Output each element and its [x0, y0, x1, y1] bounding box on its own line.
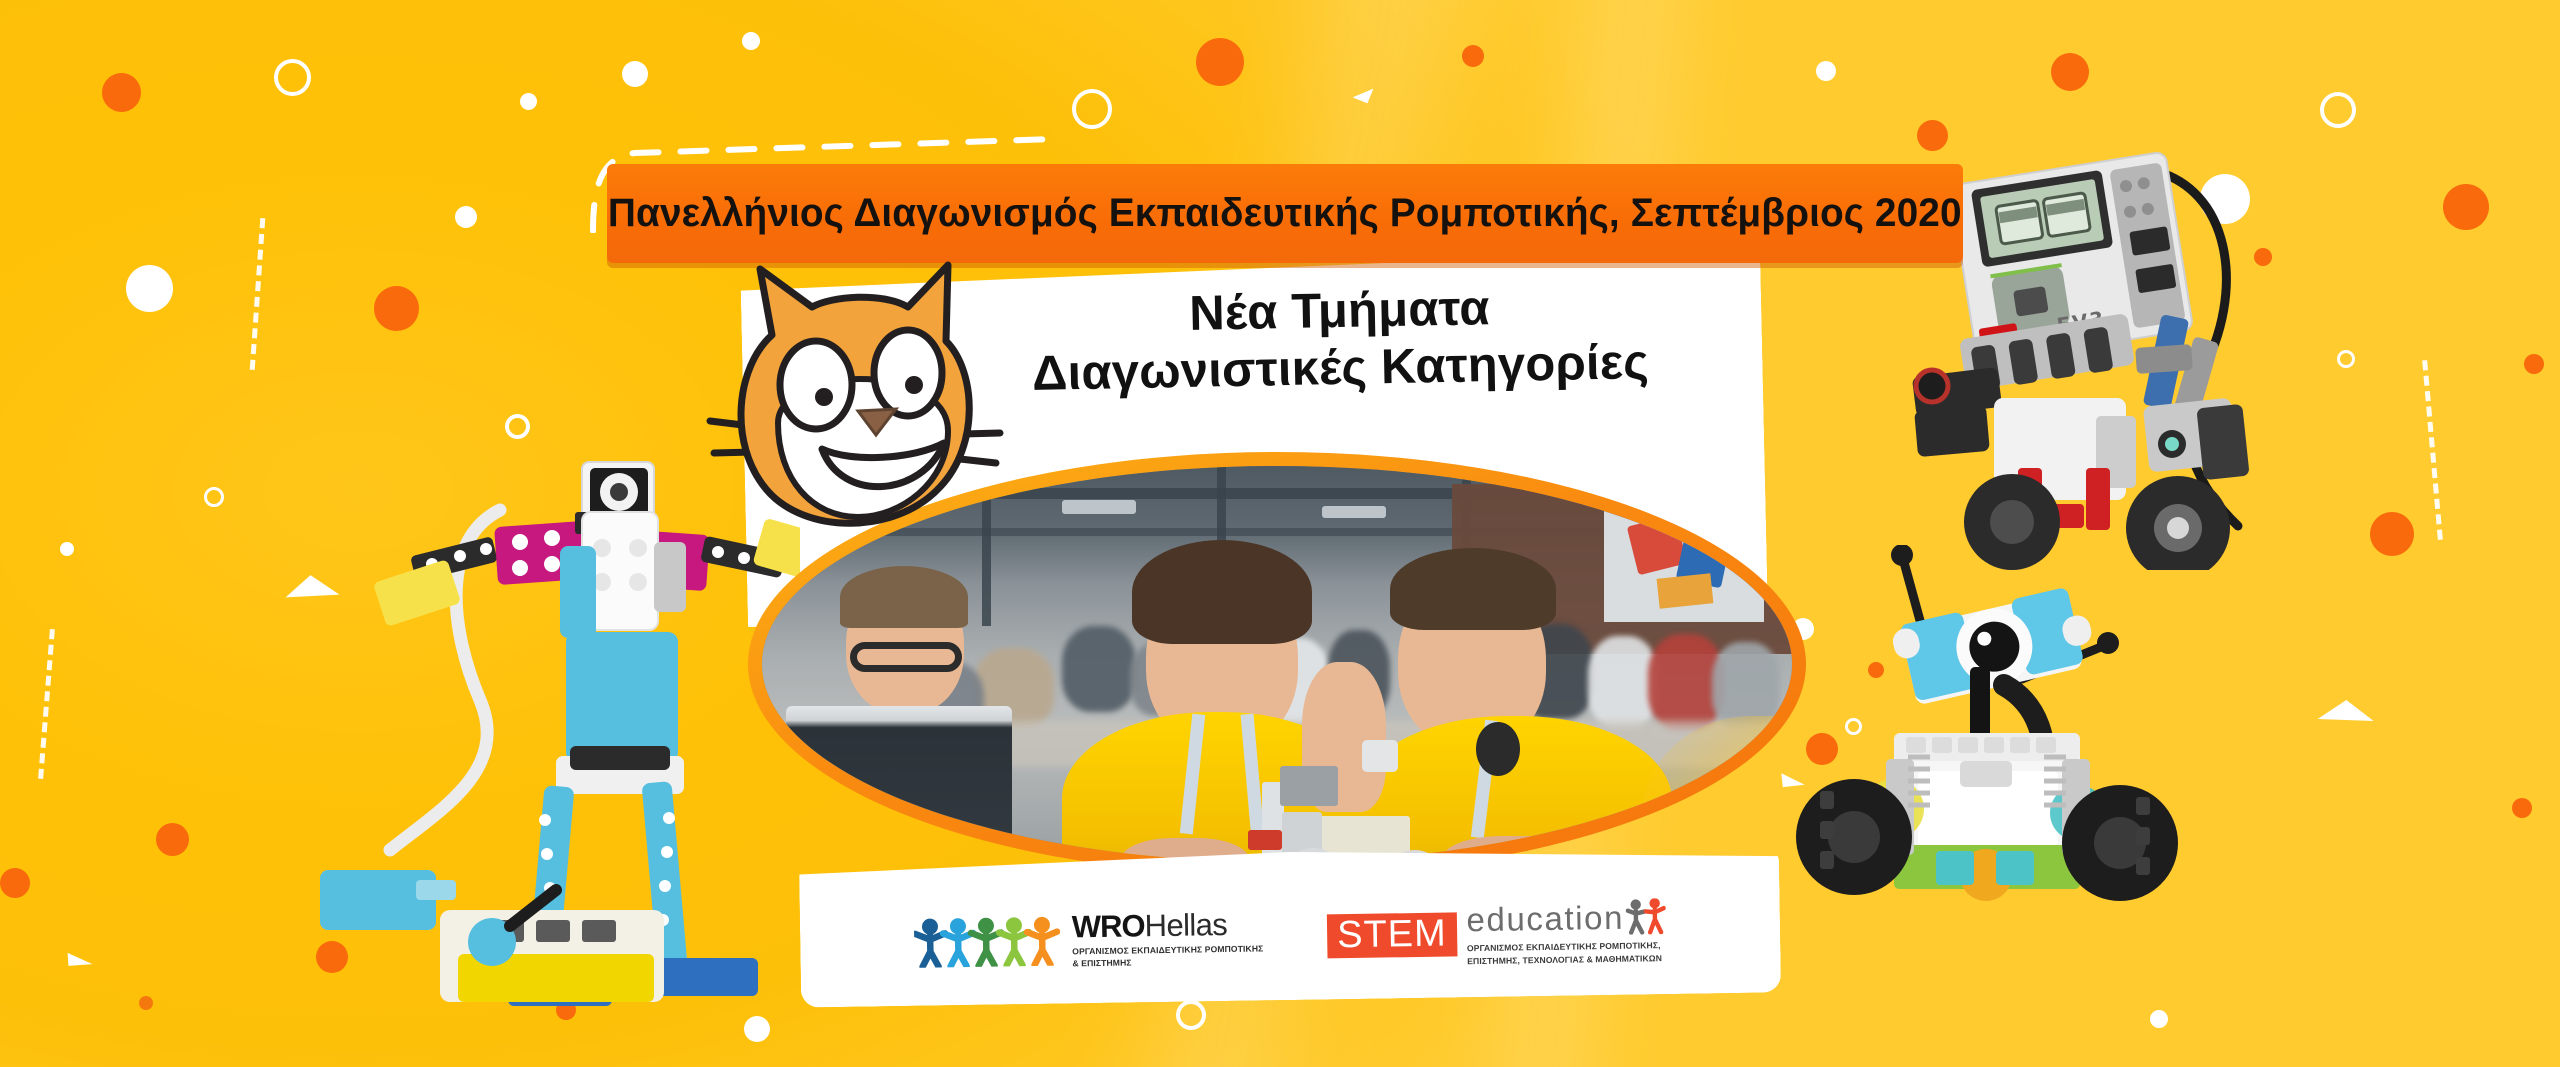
- photo-robot-part: [1280, 766, 1338, 806]
- stem-people-icon: [1626, 899, 1667, 936]
- cat-pupil-left: [815, 388, 833, 406]
- decor-dot: [2051, 53, 2089, 91]
- photo-robot-part: [1248, 830, 1282, 850]
- photo-laptop: [786, 706, 1012, 862]
- cat-pupil-right: [905, 376, 923, 394]
- stem-text-block: education: [1466, 899, 1667, 967]
- decor-dot: [2443, 184, 2489, 230]
- photo-crowd: [1062, 626, 1136, 712]
- cat-eye-right: [874, 330, 942, 416]
- photo-boy-left-glasses: [850, 642, 962, 672]
- decor-dot: [2150, 1010, 2168, 1028]
- decor-ring: [2337, 350, 2355, 368]
- photo-ceiling-light: [1322, 506, 1386, 518]
- photo-boy-left-hair: [840, 566, 968, 628]
- decor-triangle: [68, 951, 93, 966]
- decor-ring: [1176, 1000, 1206, 1030]
- decor-dot: [2370, 512, 2414, 556]
- decor-triangle: [2318, 699, 2375, 721]
- ev3-ir-sensor: [1916, 370, 1948, 402]
- decor-dot: [126, 265, 173, 312]
- photo-banner-graphic: [1657, 573, 1714, 608]
- decor-dashed-line: [2422, 360, 2443, 540]
- wro-people-figures: [914, 916, 1061, 968]
- wro-people-icon: [914, 916, 1061, 968]
- decor-ring: [274, 59, 311, 96]
- decor-dot: [1196, 38, 1244, 86]
- photo-wristwatch: [1362, 740, 1398, 772]
- spike-torso-left-motor: [560, 546, 596, 638]
- decor-dot: [744, 1016, 770, 1042]
- photo-boy-right-hair: [1390, 548, 1556, 630]
- decor-ring: [505, 414, 530, 439]
- stem-people-figures: [1626, 899, 1667, 936]
- decor-ring: [2320, 92, 2356, 128]
- photo-ceiling-light: [1062, 500, 1136, 514]
- decor-dot: [1816, 61, 1836, 81]
- spike-connector-block: [320, 870, 436, 930]
- ev3-red-brick: [2086, 468, 2110, 530]
- ev3-color-sensor: [2165, 437, 2179, 451]
- decor-dot: [139, 996, 153, 1010]
- decor-dot: [455, 206, 477, 228]
- decor-dot: [156, 823, 189, 856]
- stem-tagline: ΟΡΓΑΝΙΣΜΟΣ ΕΚΠΑΙΔΕΥΤΙΚΗΣ ΡΟΜΠΟΤΙΚΗΣ, ΕΠΙ…: [1467, 940, 1667, 967]
- wro-name-bold: WRO: [1072, 908, 1145, 944]
- photo-boy-center-hair: [1132, 540, 1312, 644]
- wro-name-light: Hellas: [1144, 907, 1227, 943]
- wro-text-block: WROHellas ΟΡΓΑΝΙΣΜΟΣ ΕΚΠΑΙΔΕΥΤΙΚΗΣ ΡΟΜΠΟ…: [1072, 908, 1264, 969]
- spike-gear: [654, 542, 686, 612]
- photo-headphones: [1476, 722, 1520, 776]
- stem-badge: STEM: [1327, 912, 1457, 958]
- decor-dot: [742, 32, 760, 50]
- decor-ring: [204, 487, 224, 507]
- event-title-text: Πανελλήνιος Διαγωνισμός Εκπαιδευτικής Ρο…: [608, 191, 1962, 236]
- wro-tagline: ΟΡΓΑΝΙΣΜΟΣ ΕΚΠΑΙΔΕΥΤΙΚΗΣ ΡΟΜΠΟΤΙΚΗΣ & ΕΠ…: [1072, 943, 1263, 969]
- decor-triangle: [1353, 83, 1374, 104]
- wro-name: WROHellas: [1072, 908, 1264, 942]
- decor-dot: [520, 93, 537, 110]
- cat-eye-left: [780, 341, 852, 429]
- decor-dot: [60, 542, 74, 556]
- lego-wedo-milo-robot: [1790, 545, 2180, 975]
- stem-word-education: education: [1466, 901, 1624, 936]
- stem-education-logo[interactable]: STEM education: [1327, 899, 1667, 969]
- wro-hellas-logo[interactable]: WROHellas ΟΡΓΑΝΙΣΜΟΣ ΕΚΠΑΙΔΕΥΤΙΚΗΣ ΡΟΜΠΟ…: [914, 908, 1264, 972]
- stem-tagline-line-2: ΕΠΙΣΤΗΜΗΣ, ΤΕΧΝΟΛΟΓΙΑΣ & ΜΑΘΗΜΑΤΙΚΩΝ: [1467, 952, 1667, 967]
- decor-dot: [374, 286, 419, 331]
- decor-dashed-line: [38, 629, 55, 779]
- decor-dot: [2512, 798, 2532, 818]
- sponsor-logo-row: WROHellas ΟΡΓΑΝΙΣΜΟΣ ΕΚΠΑΙΔΕΥΤΙΚΗΣ ΡΟΜΠΟ…: [799, 844, 1781, 1007]
- spike-hand-left: [373, 559, 461, 627]
- scratch-cat-icon: [700, 245, 1010, 545]
- decor-dot: [622, 61, 648, 87]
- decor-ring: [1072, 89, 1112, 129]
- decor-dot: [102, 73, 141, 112]
- promo-banner-canvas: Πανελλήνιος Διαγωνισμός Εκπαιδευτικής Ρο…: [0, 0, 2560, 1067]
- spike-torso-lower: [566, 632, 678, 762]
- wro-tagline-line-2: & ΕΠΙΣΤΗΜΗΣ: [1072, 955, 1263, 970]
- decor-dot: [2524, 354, 2544, 374]
- decor-dot: [0, 868, 30, 898]
- decor-dot: [1462, 45, 1484, 67]
- headline-text-block: Νέα Τμήματα Διαγωνιστικές Κατηγορίες: [969, 276, 1711, 404]
- decor-dashed-line: [250, 218, 266, 370]
